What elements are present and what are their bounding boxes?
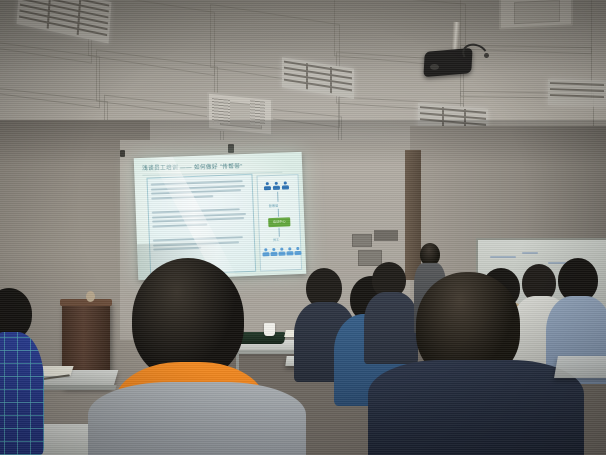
attendee-orange-hoodie	[104, 258, 308, 455]
whiteboard-mark-2	[522, 252, 538, 254]
org-middle-node: 培训中心	[268, 217, 290, 227]
person-icon	[294, 247, 301, 255]
person-icon	[273, 182, 280, 190]
person-icon	[270, 248, 277, 256]
org-chart-diagram: 管理层 培训中心 员工	[256, 174, 302, 272]
attendee-torso	[368, 360, 584, 455]
person-icon	[262, 248, 269, 256]
org-connector-bottom	[278, 228, 279, 237]
wall-sign-upper	[352, 234, 372, 247]
person-icon	[264, 182, 271, 190]
desk-front-right-overlap	[554, 356, 606, 378]
person-icon	[286, 247, 293, 255]
attendee-torso	[0, 332, 44, 455]
attendee-navy-jacket	[378, 272, 586, 455]
org-bottom-label: 员工	[273, 237, 280, 242]
whiteboard-mark-1	[490, 256, 516, 258]
org-bottom-group	[262, 247, 301, 256]
person-icon	[282, 181, 289, 189]
screen-mount-bracket-2	[120, 150, 125, 157]
wall-sign-upper-2	[374, 230, 398, 241]
org-connector-top	[277, 192, 278, 202]
projector-lens	[430, 64, 439, 70]
org-top-group	[264, 181, 289, 190]
wall-shadow	[0, 120, 606, 166]
lectern-object	[86, 291, 95, 302]
attendee-grey-jacket	[88, 382, 306, 455]
classroom-photo: 浅谈员工培训 —— 如何做好 "传帮带" 管理层	[0, 0, 606, 455]
org-connector-mid	[278, 209, 279, 217]
org-middle-label: 培训中心	[268, 218, 290, 224]
screen-mount-bracket	[228, 144, 234, 153]
person-icon	[278, 248, 285, 256]
attendee-blue-plaid	[0, 288, 56, 455]
projector-bracket-bolt	[484, 53, 489, 58]
org-top-label: 管理层	[269, 203, 279, 208]
